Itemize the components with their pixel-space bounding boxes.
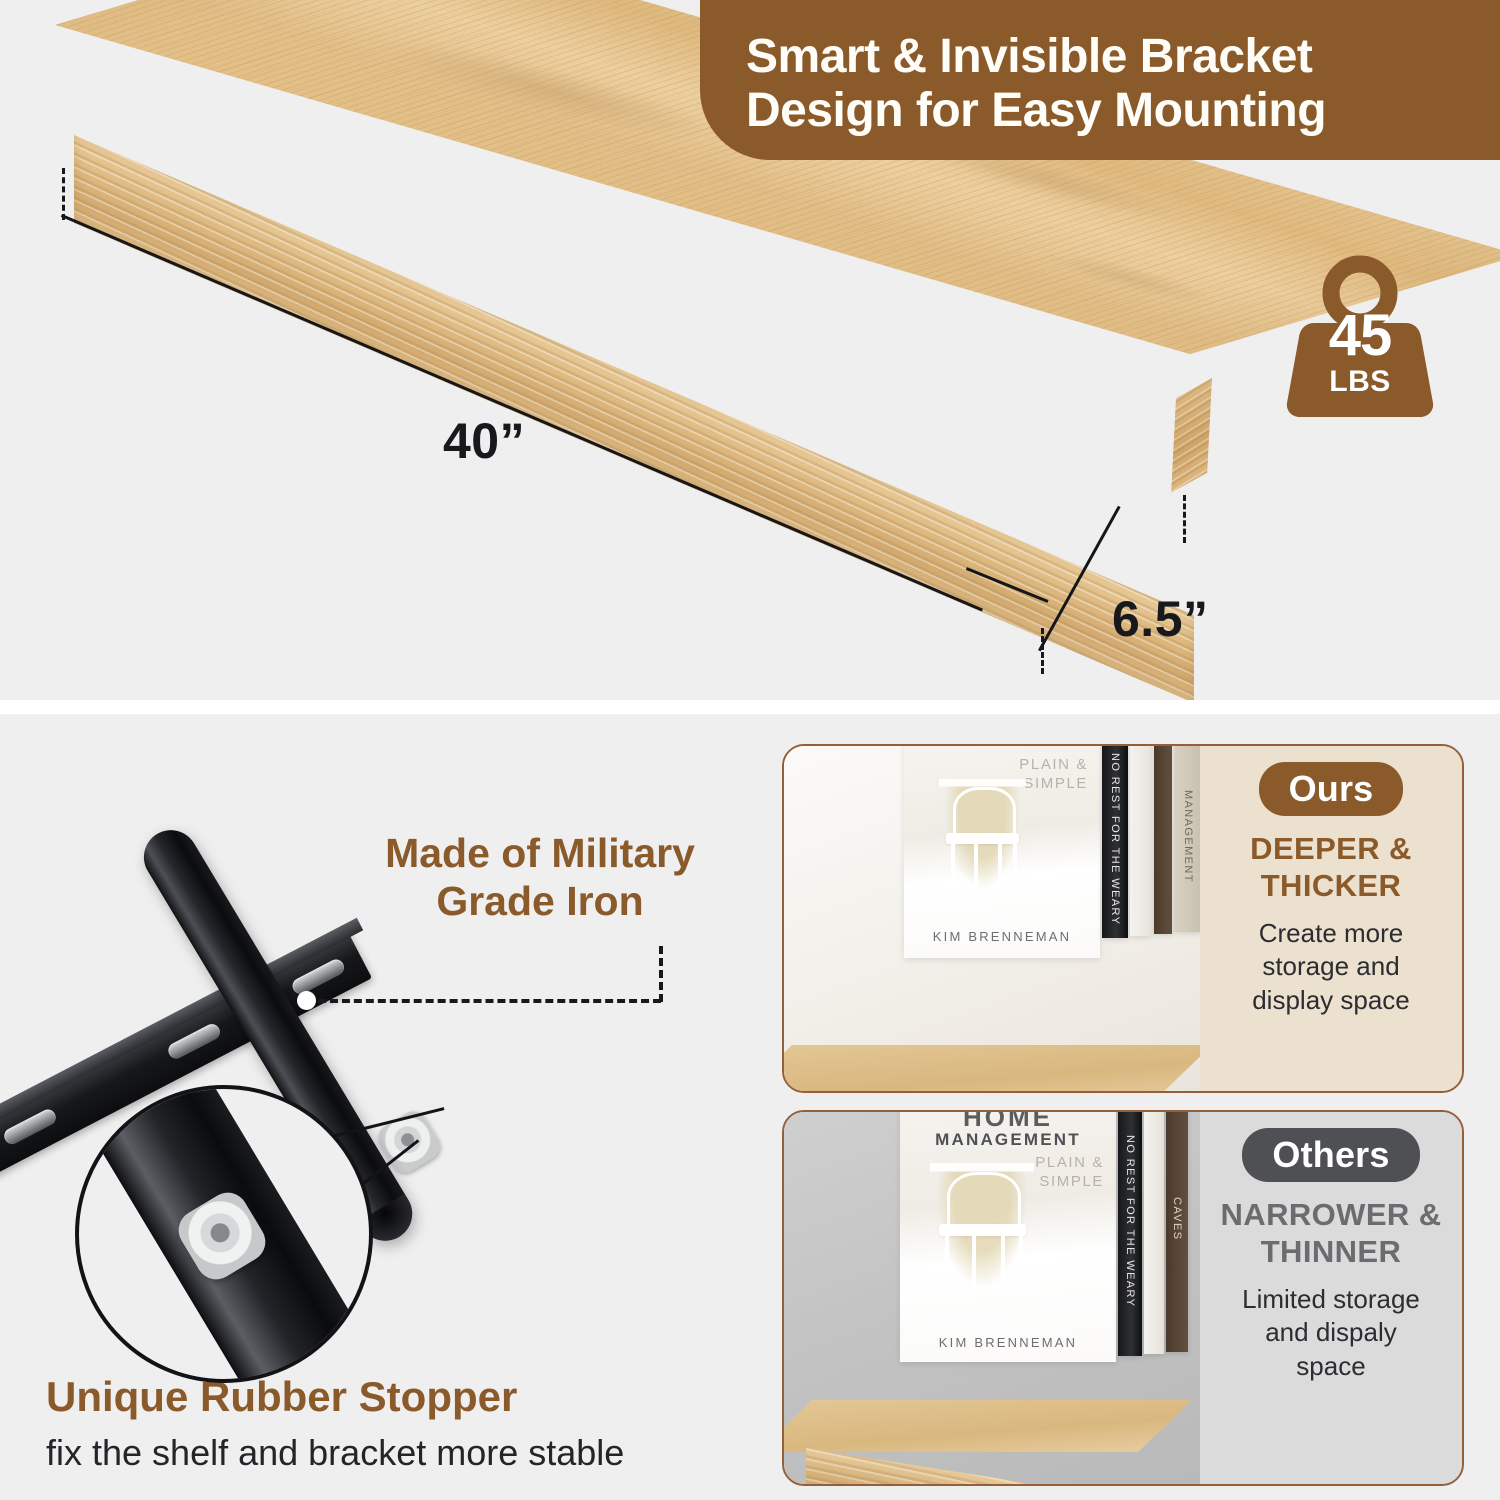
others-desc-line-1: Limited storage [1242, 1284, 1420, 1314]
others-spine-1: NO REST FOR THE WEARY [1118, 1112, 1142, 1356]
others-shelf-front [806, 1448, 1186, 1484]
others-headline: NARROWER & THINNER [1221, 1196, 1442, 1272]
others-book-title-line-2: SIMPLE [1039, 1173, 1104, 1190]
shelf-side-edge [1171, 378, 1212, 493]
ours-photo-scene: PLAIN & SIMPLE KIM BRENNEMAN NO REST FOR [784, 746, 1200, 1091]
ours-text-panel: Ours DEEPER & THICKER Create more storag… [1200, 746, 1462, 1091]
ours-book-author: KIM BRENNEMAN [904, 929, 1100, 944]
comparison-card-others: HOME MANAGEMENT PLAIN & SIMPLE KIM [782, 1110, 1464, 1486]
ours-headline-line-2: THICKER [1261, 868, 1402, 903]
ours-front-book: PLAIN & SIMPLE KIM BRENNEMAN [904, 746, 1100, 958]
callout-dashed-vertical [659, 946, 663, 1002]
others-headline-line-1: NARROWER & [1221, 1197, 1442, 1232]
others-spine-3: CAVES [1166, 1112, 1188, 1352]
weight-capacity-badge: 45 LBS [1280, 255, 1440, 420]
weight-text-group: 45 LBS [1280, 307, 1440, 397]
ours-photo: PLAIN & SIMPLE KIM BRENNEMAN NO REST FOR [784, 746, 1200, 1091]
chair-leg-2 [974, 843, 978, 899]
ours-spine-3 [1154, 746, 1172, 934]
header-banner: Smart & Invisible Bracket Design for Eas… [700, 0, 1500, 160]
material-title-line-1: Made of Military [385, 830, 695, 876]
chair-seat [939, 1224, 1026, 1236]
others-front-book: HOME MANAGEMENT PLAIN & SIMPLE KIM [900, 1112, 1116, 1362]
others-shelf-top [784, 1400, 1192, 1452]
length-extension-line [62, 168, 65, 220]
chair-leg-1 [945, 1235, 949, 1296]
callout-dashed-horizontal [318, 999, 661, 1003]
material-title-line-2: Grade Iron [436, 878, 643, 924]
length-dimension-label: 40” [443, 412, 525, 470]
chair-leg-4 [1013, 843, 1017, 892]
others-book-title-sub: MANAGEMENT [900, 1130, 1116, 1150]
others-spine-2 [1144, 1112, 1164, 1354]
weight-value: 45 [1280, 307, 1440, 365]
rubber-stopper-magnifier [75, 1085, 373, 1383]
chair-leg-4 [1019, 1235, 1023, 1290]
ours-headline: DEEPER & THICKER [1250, 830, 1412, 906]
others-book-title-line-1: PLAIN & [1035, 1154, 1104, 1171]
others-description: Limited storage and dispaly space [1242, 1283, 1420, 1383]
others-photo-scene: HOME MANAGEMENT PLAIN & SIMPLE KIM [784, 1112, 1200, 1484]
others-desc-line-2: and dispaly [1265, 1317, 1397, 1347]
others-book-chair-art [930, 1163, 1034, 1301]
depth-extension-line-bottom [1041, 628, 1044, 674]
depth-extension-line-top [1183, 495, 1186, 543]
ours-desc-line-1: Create more [1259, 918, 1404, 948]
comparison-card-ours: PLAIN & SIMPLE KIM BRENNEMAN NO REST FOR [782, 744, 1464, 1093]
others-text-panel: Others NARROWER & THINNER Limited storag… [1200, 1112, 1462, 1484]
chair-leg-1 [951, 843, 955, 897]
ours-desc-line-3: display space [1252, 985, 1410, 1015]
ours-book-chair-art [939, 779, 1025, 901]
chair-leg-3 [998, 843, 1002, 897]
ours-description: Create more storage and display space [1252, 917, 1410, 1017]
ours-pill-badge: Ours [1259, 762, 1404, 816]
depth-dimension-label: 6.5” [1112, 590, 1209, 648]
others-book-author: KIM BRENNEMAN [900, 1335, 1116, 1350]
ours-book-title-line-2: SIMPLE [1023, 775, 1088, 792]
others-pill-badge: Others [1242, 1128, 1419, 1182]
ours-desc-line-2: storage and [1262, 951, 1399, 981]
ours-spine-1: NO REST FOR THE WEARY [1102, 746, 1128, 938]
ours-book-title: PLAIN & SIMPLE [1019, 756, 1088, 794]
others-book-title: PLAIN & SIMPLE [1035, 1154, 1104, 1192]
chair-seat [946, 833, 1018, 844]
stopper-feature-subtitle: fix the shelf and bracket more stable [46, 1432, 806, 1473]
ours-spine-2 [1130, 746, 1152, 936]
banner-title-line-1: Smart & Invisible Bracket [746, 30, 1470, 84]
callout-point-marker [297, 991, 316, 1010]
stopper-feature-title: Unique Rubber Stopper [46, 1374, 766, 1420]
infographic-root: 40” 6.5” 45 LBS Smart & Invisible Bracke… [0, 0, 1500, 1500]
weight-unit: LBS [1280, 367, 1440, 397]
top-panel: 40” 6.5” 45 LBS Smart & Invisible Bracke… [0, 0, 1500, 700]
ours-shelf-top [784, 1045, 1200, 1091]
banner-title-line-2: Design for Easy Mounting [746, 84, 1470, 138]
chair-leg-2 [972, 1235, 976, 1298]
others-headline-line-2: THINNER [1261, 1234, 1402, 1269]
material-feature-title: Made of Military Grade Iron [330, 830, 750, 925]
others-desc-line-3: space [1296, 1351, 1365, 1381]
ours-headline-line-1: DEEPER & [1250, 831, 1412, 866]
others-photo: HOME MANAGEMENT PLAIN & SIMPLE KIM [784, 1112, 1200, 1484]
section-divider [0, 700, 1500, 714]
ours-spine-4: MANAGEMENT [1174, 746, 1200, 932]
ours-book-title-line-1: PLAIN & [1019, 756, 1088, 773]
chair-leg-3 [1001, 1235, 1005, 1296]
